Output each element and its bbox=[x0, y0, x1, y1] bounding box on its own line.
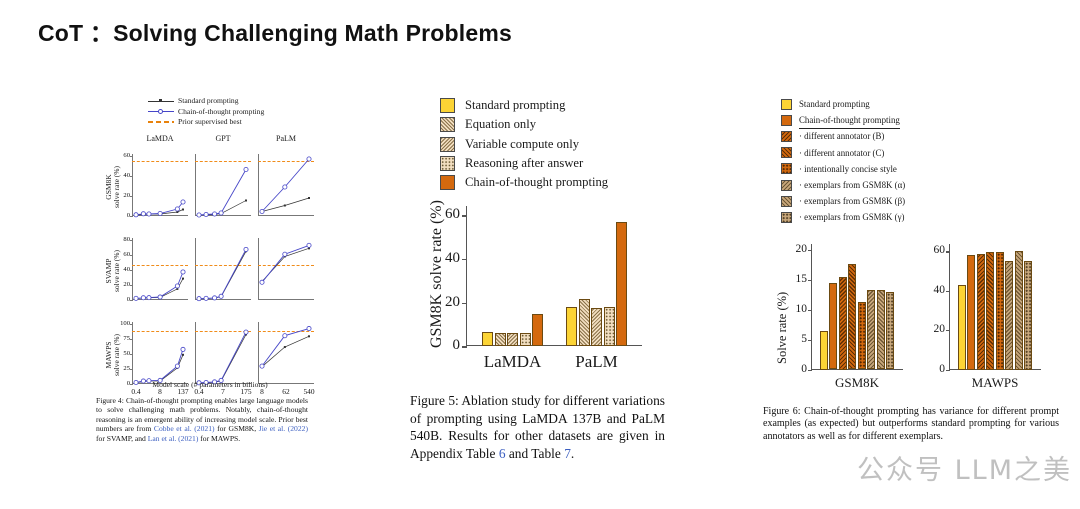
figure-4-ytick-mark bbox=[130, 196, 133, 197]
figure-4-ytick: 60 bbox=[114, 152, 130, 159]
figure-5-category-label: LaMDA bbox=[468, 352, 557, 372]
prior-supervised-best-line bbox=[195, 331, 251, 332]
prior-supervised-best-line bbox=[132, 331, 188, 332]
figure-6-ytick: 15 bbox=[785, 273, 807, 285]
figure-5-caption: Figure 5: Ablation study for different v… bbox=[410, 392, 665, 462]
figure-4-ytick-mark bbox=[130, 270, 133, 271]
figure-4-ytick: 75 bbox=[114, 335, 130, 342]
legend-swatch-dots-orange bbox=[781, 163, 792, 174]
figure-6-legend: Standard promptingChain-of-thought promp… bbox=[781, 96, 1063, 226]
caption-text: for MAWPS. bbox=[198, 434, 240, 443]
figure-5-legend: Standard promptingEquation onlyVariable … bbox=[440, 96, 672, 192]
figure-4-column-header: GPT bbox=[195, 134, 251, 143]
legend-swatch-hatch-fwd bbox=[440, 137, 455, 152]
figure-5-bar bbox=[495, 333, 506, 346]
legend-swatch-dots bbox=[440, 156, 455, 171]
figure-6-bar bbox=[829, 283, 837, 369]
figure-6-bar bbox=[1005, 261, 1013, 369]
page-title: CoT ：Solving Challenging Math Problems bbox=[38, 14, 512, 48]
figure-5-bar bbox=[482, 332, 493, 346]
figure-4-legend-item: Prior supervised best bbox=[148, 117, 324, 128]
figure-6-ytick-mark bbox=[808, 250, 812, 251]
prior-supervised-best-line bbox=[132, 161, 188, 162]
figure-4-legend: Standard promptingChain-of-thought promp… bbox=[148, 96, 324, 128]
figure-4-ytick: 40 bbox=[114, 172, 130, 179]
figure-6-ytick: 40 bbox=[923, 284, 945, 296]
citation-link[interactable]: Lan et al. (2021) bbox=[148, 434, 199, 443]
figure-6-bar bbox=[858, 302, 866, 369]
figure-5-legend-label: Reasoning after answer bbox=[465, 154, 583, 173]
figure-6-category-label: GSM8K bbox=[799, 375, 915, 391]
figure-5: Standard promptingEquation onlyVariable … bbox=[410, 96, 672, 486]
figure-6-ytick: 0 bbox=[785, 363, 807, 375]
figure-6-legend-label: · exemplars from GSM8K (γ) bbox=[799, 209, 904, 225]
figure-4-panel bbox=[195, 238, 251, 300]
figure-4-column-header: PaLM bbox=[258, 134, 314, 143]
figure-6-bar bbox=[877, 290, 885, 370]
figure-4-ytick: 80 bbox=[114, 236, 130, 243]
figure-6-ytick-mark bbox=[946, 370, 950, 371]
figure-6-legend-item: Chain-of-thought prompting bbox=[781, 112, 1063, 128]
legend-swatch-solid-orange bbox=[781, 115, 792, 126]
figure-6-caption: Figure 6: Chain-of-thought prompting has… bbox=[763, 406, 1059, 443]
figure-6-legend-item: · exemplars from GSM8K (α) bbox=[781, 177, 1063, 193]
figure-5-bar bbox=[604, 307, 615, 346]
figure-5-legend-item: Equation only bbox=[440, 115, 672, 134]
figure-6-category-label: MAWPS bbox=[937, 375, 1053, 391]
table-link[interactable]: 7 bbox=[564, 446, 571, 461]
figure-4-ytick: 50 bbox=[114, 350, 130, 357]
figure-4-ytick-mark bbox=[130, 300, 133, 301]
legend-swatch-hatch-fwd-tan bbox=[781, 180, 792, 191]
table-link[interactable]: 6 bbox=[499, 446, 506, 461]
blue-line-marker-icon bbox=[148, 107, 174, 116]
figure-6-legend-item: · exemplars from GSM8K (β) bbox=[781, 193, 1063, 209]
figure-4-ytick-mark bbox=[130, 324, 133, 325]
figure-5-ytick-mark bbox=[462, 259, 467, 260]
figure-5-yaxis-label: GSM8K solve rate (%) bbox=[428, 201, 446, 349]
caption-text: Figure 6: Chain-of-thought prompting has… bbox=[763, 406, 1059, 442]
legend-swatch-hatch-fwd-orange bbox=[781, 131, 792, 142]
figure-6-legend-label: · intentionally concise style bbox=[799, 161, 897, 177]
figure-4: Standard promptingChain-of-thought promp… bbox=[96, 96, 324, 486]
figure-6-legend-label: Standard prompting bbox=[799, 96, 870, 112]
figure-5-bar bbox=[579, 299, 590, 347]
figure-4-row-label: GSM8Ksolve rate (%) bbox=[105, 156, 121, 218]
figure-6-bar bbox=[848, 264, 856, 370]
figure-5-legend-item: Reasoning after answer bbox=[440, 154, 672, 173]
figure-6-ytick: 20 bbox=[923, 323, 945, 335]
figure-6-legend-item: · intentionally concise style bbox=[781, 161, 1063, 177]
legend-swatch-hatch-back-orange bbox=[781, 147, 792, 158]
figure-6-bar bbox=[886, 292, 894, 369]
figure-4-ytick-mark bbox=[130, 285, 133, 286]
figure-6-bar bbox=[996, 252, 1004, 369]
prior-supervised-best-line bbox=[195, 161, 251, 162]
figure-6-legend-label: · different annotator (C) bbox=[799, 145, 884, 161]
figure-6-bar bbox=[839, 277, 847, 370]
figure-6-ytick-mark bbox=[808, 280, 812, 281]
figure-6-ytick: 20 bbox=[785, 243, 807, 255]
figure-6-ytick-mark bbox=[946, 251, 950, 252]
figure-5-bar bbox=[507, 333, 518, 346]
citation-link[interactable]: Jie et al. (2022) bbox=[259, 424, 308, 433]
figure-6-legend-label: · exemplars from GSM8K (α) bbox=[799, 177, 905, 193]
figure-4-ytick: 100 bbox=[114, 320, 130, 327]
figure-4-ytick-mark bbox=[130, 240, 133, 241]
legend-swatch-hatch-back bbox=[440, 117, 455, 132]
figure-5-legend-item: Standard prompting bbox=[440, 96, 672, 115]
figure-4-panel bbox=[132, 238, 188, 300]
figure-4-caption: Figure 4: Chain-of-thought prompting ena… bbox=[96, 396, 308, 443]
figure-4-ytick: 60 bbox=[114, 251, 130, 258]
figure-6-ytick: 0 bbox=[923, 363, 945, 375]
legend-swatch-solid-yellow bbox=[440, 98, 455, 113]
figure-4-panel bbox=[258, 238, 314, 300]
figure-6-legend-label: · different annotator (B) bbox=[799, 128, 884, 144]
prior-supervised-best-line bbox=[195, 265, 251, 266]
figure-4-ytick-mark bbox=[130, 369, 133, 370]
figure-6-yaxis-label: Solve rate (%) bbox=[775, 291, 790, 363]
figure-4-ytick: 20 bbox=[114, 281, 130, 288]
prior-supervised-best-line bbox=[258, 331, 314, 332]
legend-swatch-dots-tan bbox=[781, 212, 792, 223]
figure-6-bar bbox=[1024, 261, 1032, 369]
figure-6-bar bbox=[967, 255, 975, 369]
figure-6-legend-label: Chain-of-thought prompting bbox=[799, 112, 900, 129]
caption-text: for GSM8K, bbox=[215, 424, 259, 433]
black-line-marker-icon bbox=[148, 97, 174, 106]
figure-4-legend-item: Standard prompting bbox=[148, 96, 324, 107]
legend-swatch-solid-yellow bbox=[781, 99, 792, 110]
figure-5-legend-label: Equation only bbox=[465, 115, 536, 134]
figure-6-legend-item: Standard prompting bbox=[781, 96, 1063, 112]
figure-4-ytick-mark bbox=[130, 176, 133, 177]
figure-4-ytick: 0 bbox=[114, 212, 130, 219]
figure-6-bar bbox=[867, 290, 875, 370]
figure-4-ytick: 0 bbox=[114, 296, 130, 303]
figure-6-bar bbox=[958, 285, 966, 370]
figure-6-bar bbox=[986, 252, 994, 369]
figure-5-ytick-mark bbox=[462, 303, 467, 304]
figure-4-ytick-mark bbox=[130, 156, 133, 157]
figure-5-legend-label: Standard prompting bbox=[465, 96, 565, 115]
figure-6-legend-item: · different annotator (B) bbox=[781, 128, 1063, 144]
figure-4-legend-label: Standard prompting bbox=[178, 96, 239, 106]
figure-6-ytick-mark bbox=[808, 310, 812, 311]
legend-swatch-solid-orange bbox=[440, 175, 455, 190]
figure-5-legend-label: Chain-of-thought prompting bbox=[465, 173, 608, 192]
figure-5-ytick-mark bbox=[462, 215, 467, 216]
figure-6-bar bbox=[820, 331, 828, 370]
figure-6-legend-label: · exemplars from GSM8K (β) bbox=[799, 193, 905, 209]
figure-5-bar bbox=[532, 314, 543, 346]
figure-5-legend-item: Chain-of-thought prompting bbox=[440, 173, 672, 192]
caption-text: and Table bbox=[506, 446, 565, 461]
figure-5-bar bbox=[616, 222, 627, 346]
figure-4-ytick-mark bbox=[130, 354, 133, 355]
figure-5-legend-label: Variable compute only bbox=[465, 135, 579, 154]
figure-5-bar bbox=[591, 308, 602, 346]
figure-5-category-label: PaLM bbox=[552, 352, 641, 372]
caption-text: . bbox=[571, 446, 574, 461]
figure-4-panel bbox=[258, 154, 314, 216]
figure-6-chart: 05101520GSM8KSolve rate (%)0204060MAWPS bbox=[763, 236, 1063, 406]
figure-4-legend-label: Prior supervised best bbox=[178, 117, 242, 127]
figure-6-bar bbox=[1015, 251, 1023, 369]
figure-6-legend-item: · exemplars from GSM8K (γ) bbox=[781, 209, 1063, 225]
caption-text: for SVAMP, and bbox=[96, 434, 148, 443]
figure-4-ytick: 20 bbox=[114, 192, 130, 199]
citation-link[interactable]: Cobbe et al. (2021) bbox=[154, 424, 215, 433]
figure-6-ytick-mark bbox=[946, 330, 950, 331]
figure-4-xaxis-title: Model scale (# parameters in billions) bbox=[96, 380, 324, 389]
figure-4-ytick: 25 bbox=[114, 365, 130, 372]
figure-4-ytick: 40 bbox=[114, 266, 130, 273]
figure-4-panel bbox=[132, 154, 188, 216]
figure-4-ytick-mark bbox=[130, 216, 133, 217]
prior-supervised-best-line bbox=[132, 265, 188, 266]
figure-6-ytick: 60 bbox=[923, 244, 945, 256]
figure-4-column-header: LaMDA bbox=[132, 134, 188, 143]
figure-4-panel-grid: LaMDAGPTPaLMGSM8Ksolve rate (%)SVAMPsolv… bbox=[96, 134, 324, 414]
figure-5-legend-item: Variable compute only bbox=[440, 135, 672, 154]
figure-6-legend-item: · different annotator (C) bbox=[781, 145, 1063, 161]
figure-5-chart: 0204060GSM8K solve rate (%)LaMDAPaLM bbox=[410, 200, 672, 385]
figure-6-ytick-mark bbox=[946, 291, 950, 292]
figure-6: Standard promptingChain-of-thought promp… bbox=[763, 96, 1063, 486]
prior-supervised-best-line bbox=[258, 265, 314, 266]
figure-6-ytick-mark bbox=[808, 340, 812, 341]
figure-5-bar bbox=[520, 333, 531, 346]
prior-supervised-best-line bbox=[258, 161, 314, 162]
dashed-line-icon bbox=[148, 118, 174, 127]
figure-5-bar bbox=[566, 307, 577, 346]
legend-swatch-hatch-back-tan bbox=[781, 196, 792, 207]
figure-4-legend-label: Chain-of-thought prompting bbox=[178, 107, 264, 117]
figure-6-bar bbox=[977, 254, 985, 369]
figure-4-ytick-mark bbox=[130, 339, 133, 340]
figure-4-legend-item: Chain-of-thought prompting bbox=[148, 107, 324, 118]
figure-5-ytick-mark bbox=[462, 346, 467, 347]
figure-4-panel bbox=[195, 154, 251, 216]
figure-6-ytick-mark bbox=[808, 370, 812, 371]
figure-4-ytick-mark bbox=[130, 255, 133, 256]
